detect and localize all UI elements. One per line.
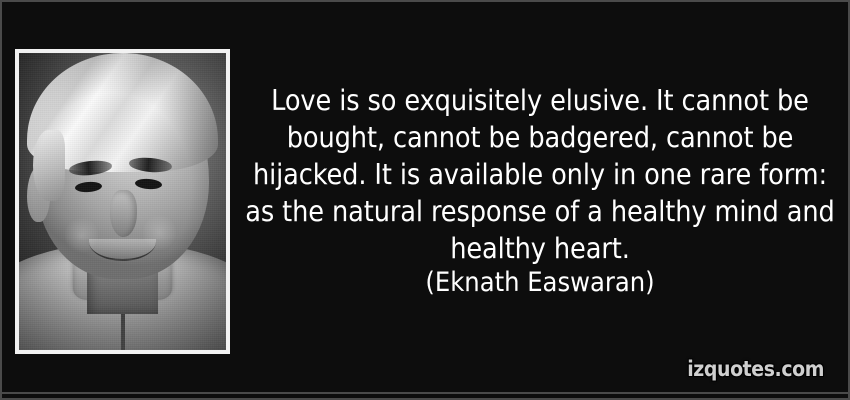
photo-grain bbox=[19, 53, 226, 350]
quote-text: Love is so exquisitely elusive. It canno… bbox=[240, 82, 840, 267]
site-watermark: izquotes.com bbox=[687, 357, 824, 381]
quote-card: Love is so exquisitely elusive. It canno… bbox=[0, 0, 850, 400]
author-portrait-photo bbox=[19, 53, 226, 350]
portrait-frame bbox=[15, 49, 230, 354]
quote-attribution: (Eknath Easwaran) bbox=[240, 266, 840, 300]
bottom-divider bbox=[2, 392, 848, 394]
